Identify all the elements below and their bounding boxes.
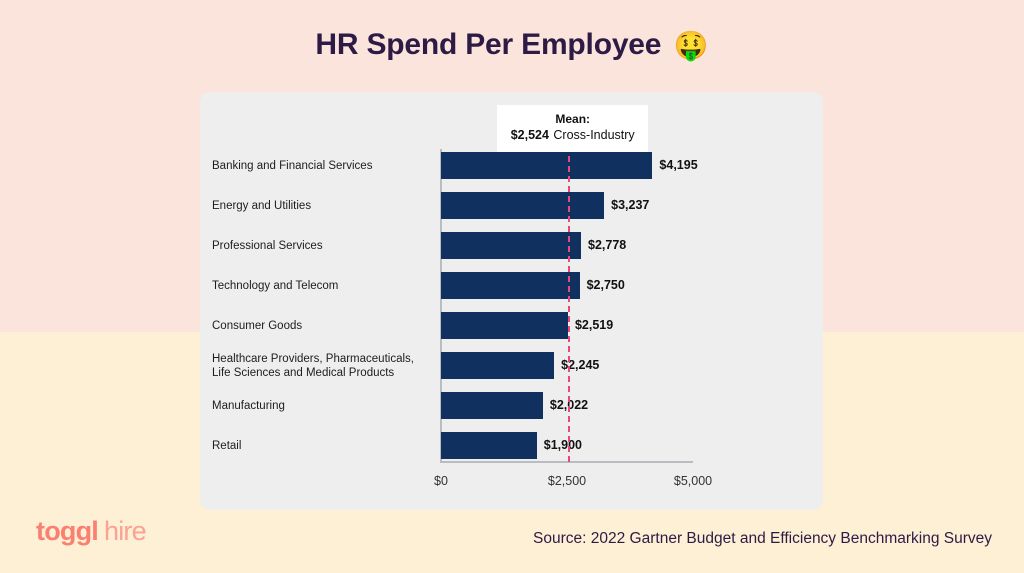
category-label: Professional Services: [212, 239, 434, 253]
toggl-hire-logo[interactable]: togglhire: [36, 516, 146, 547]
bar: [441, 152, 652, 179]
bar: [441, 192, 604, 219]
bar: [441, 232, 581, 259]
logo-brand-text: toggl: [36, 516, 98, 546]
x-tick-label: $5,000: [674, 474, 712, 488]
money-mouth-face-icon: 🤑: [674, 30, 709, 61]
bar-value-label: $2,519: [575, 318, 613, 332]
bar: [441, 352, 554, 379]
bar-value-label: $4,195: [659, 158, 697, 172]
bar: [441, 312, 568, 339]
bar-value-label: $1,900: [544, 438, 582, 452]
bar-value-label: $2,245: [561, 358, 599, 372]
category-label: Energy and Utilities: [212, 199, 434, 213]
bar-value-label: $2,778: [588, 238, 626, 252]
x-axis-line: [440, 461, 693, 463]
category-label: Banking and Financial Services: [212, 159, 434, 173]
mean-label: Mean:: [501, 112, 644, 127]
title-row: HR Spend Per Employee 🤑: [0, 28, 1024, 62]
x-tick-label: $2,500: [548, 474, 586, 488]
bar-value-label: $3,237: [611, 198, 649, 212]
category-label: Healthcare Providers, Pharmaceuticals, L…: [212, 352, 434, 380]
mean-value: $2,524: [511, 128, 549, 142]
category-label: Consumer Goods: [212, 319, 434, 333]
page-title: HR Spend Per Employee: [315, 28, 661, 61]
bar: [441, 432, 537, 459]
mean-annotation-box: Mean: $2,524 Cross-Industry: [497, 105, 648, 152]
source-note: Source: 2022 Gartner Budget and Efficien…: [533, 530, 992, 548]
x-tick-label: $0: [434, 474, 448, 488]
mean-reference-line: [568, 136, 570, 462]
bar: [441, 392, 543, 419]
bar-value-label: $2,750: [587, 278, 625, 292]
category-label: Retail: [212, 439, 434, 453]
mean-subtitle: Cross-Industry: [553, 128, 634, 142]
bar: [441, 272, 580, 299]
chart-panel: Banking and Financial ServicesEnergy and…: [200, 92, 823, 510]
category-label: Technology and Telecom: [212, 279, 434, 293]
category-label: Manufacturing: [212, 399, 434, 413]
logo-product-text: hire: [104, 516, 146, 546]
